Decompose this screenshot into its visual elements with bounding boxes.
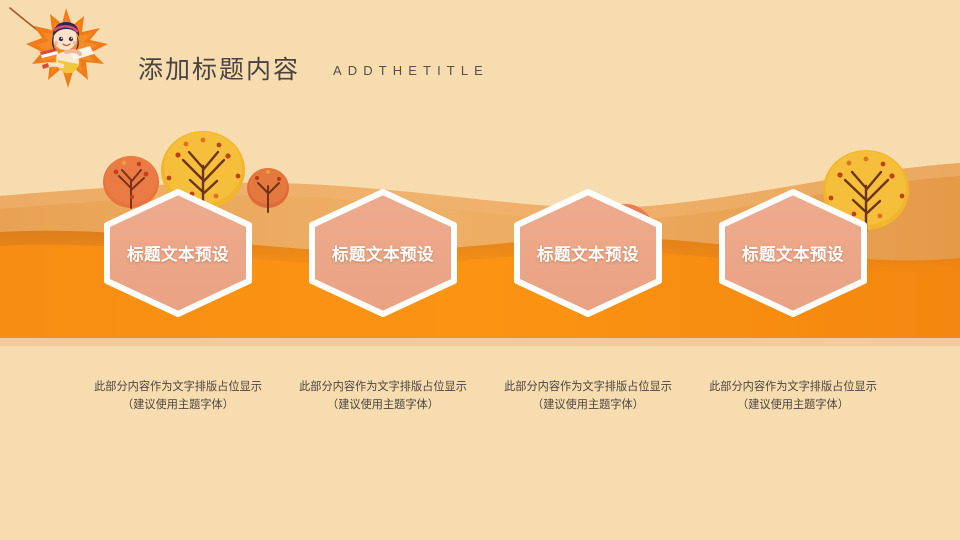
hexagon-label: 标题文本预设 (718, 188, 868, 318)
caption-block-2: 此部分内容作为文字排版占位显示 （建议使用主题字体） (267, 378, 499, 414)
hexagon-label: 标题文本预设 (103, 188, 253, 318)
slide-header: 添加标题内容 ADDTHETITLE (0, 0, 960, 115)
hexagon-card-2[interactable]: 标题文本预设 (308, 188, 458, 318)
caption-line-2: （建议使用主题字体） (267, 396, 499, 414)
caption-block-4: 此部分内容作为文字排版占位显示 （建议使用主题字体） (677, 378, 909, 414)
hexagon-card-3[interactable]: 标题文本预设 (513, 188, 663, 318)
caption-block-1: 此部分内容作为文字排版占位显示 （建议使用主题字体） (62, 378, 294, 414)
hexagon-label: 标题文本预设 (308, 188, 458, 318)
slide-canvas: 添加标题内容 ADDTHETITLE 标题文本预设 标题文本预设 标题文本预设 … (0, 0, 960, 540)
caption-block-3: 此部分内容作为文字排版占位显示 （建议使用主题字体） (472, 378, 704, 414)
caption-line-2: （建议使用主题字体） (677, 396, 909, 414)
caption-line-1: 此部分内容作为文字排版占位显示 (62, 378, 294, 396)
girl-riding-maple-leaf-icon (8, 2, 128, 94)
hexagon-card-4[interactable]: 标题文本预设 (718, 188, 868, 318)
caption-line-1: 此部分内容作为文字排版占位显示 (267, 378, 499, 396)
caption-line-2: （建议使用主题字体） (62, 396, 294, 414)
caption-line-2: （建议使用主题字体） (472, 396, 704, 414)
hexagon-label: 标题文本预设 (513, 188, 663, 318)
page-title: 添加标题内容 (138, 50, 300, 86)
hexagon-card-1[interactable]: 标题文本预设 (103, 188, 253, 318)
caption-line-1: 此部分内容作为文字排版占位显示 (677, 378, 909, 396)
page-subtitle: ADDTHETITLE (333, 63, 489, 78)
caption-line-1: 此部分内容作为文字排版占位显示 (472, 378, 704, 396)
